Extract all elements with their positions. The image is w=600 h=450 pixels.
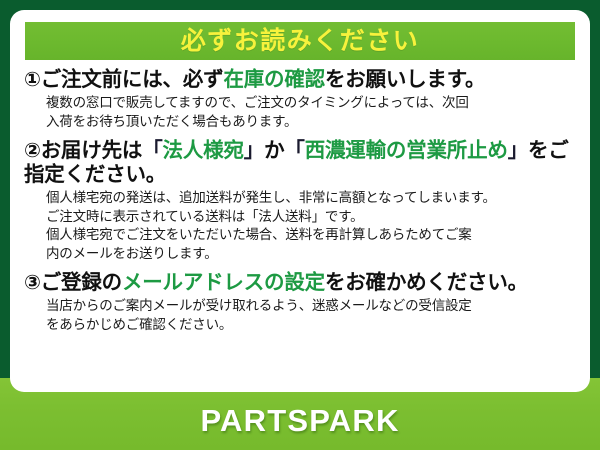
item-3-heading-part-1: メールアドレスの設定 [122,271,325,294]
notice-item-2-body: 個人様宅宛の発送は、追加送料が発生し、非常に高額となってしまいます。 ご注文時に… [24,189,578,264]
notice-item-1: ①ご注文前には、必ず在庫の確認をお願いします。 複数の窓口で販売してますので、ご… [24,68,578,132]
footer-logo: PARTSPARK [0,392,600,450]
banner-title: 必ずお読みください [181,29,420,54]
title-bar: 必ずお読みください [25,22,575,60]
notice-card: 必ずお読みください ①ご注文前には、必ず在庫の確認をお願いします。 複数の窓口で… [10,10,590,392]
item-1-number: ① [24,69,41,91]
notice-banner: 必ずお読みください ①ご注文前には、必ず在庫の確認をお願いします。 複数の窓口で… [0,0,600,450]
item-2-heading-part-6: 西濃運輸の営業所止め [305,139,508,162]
item-3-body-line-0: 当店からのご案内メールが受け取れるよう、迷惑メールなどの受信設定 [46,297,578,316]
notice-item-2-heading: ②お届け先は「法人様宛」か「西濃運輸の営業所止め」をご指定ください。 [24,139,578,187]
notice-item-3: ③ご登録のメールアドレスの設定をお確かめください。 当店からのご案内メールが受け… [24,271,578,335]
item-2-heading-part-1: 「 [142,139,162,162]
item-2-heading-part-5: 「 [284,139,304,162]
notice-item-3-heading: ③ご登録のメールアドレスの設定をお確かめください。 [24,271,578,295]
item-2-number: ② [24,140,41,162]
item-3-heading-part-2: をお確かめください。 [325,271,528,294]
item-2-heading-part-3: 」 [244,139,264,162]
item-2-body-line-1: ご注文時に表示されている送料は「法人送料」です。 [46,208,578,227]
item-3-number: ③ [24,272,41,294]
notice-items-list: ①ご注文前には、必ず在庫の確認をお願いします。 複数の窓口で販売してますので、ご… [10,68,590,341]
item-2-body-line-2: 個人様宅宛でご注文をいただいた場合、送料を再計算しあらためてご案 [46,226,578,245]
brand-logo-text: PARTSPARK [200,403,399,439]
notice-item-1-heading: ①ご注文前には、必ず在庫の確認をお願いします。 [24,68,578,92]
notice-item-2: ②お届け先は「法人様宛」か「西濃運輸の営業所止め」をご指定ください。 個人様宅宛… [24,139,578,264]
item-3-body-line-1: をあらかじめご確認ください。 [46,316,578,335]
item-1-body-line-1: 入荷をお待ち頂いただく場合もあります。 [46,113,578,132]
item-2-heading-part-4: か [264,139,284,162]
item-2-heading-part-7: 」 [508,139,528,162]
item-1-heading-part-2: をお願いします。 [325,68,485,91]
item-3-heading-part-0: ご登録の [41,271,122,294]
item-2-body-line-0: 個人様宅宛の発送は、追加送料が発生し、非常に高額となってしまいます。 [46,189,578,208]
item-1-heading-part-1: 在庫の確認 [223,68,325,91]
item-1-heading-part-0: ご注文前には、必ず [41,68,224,91]
item-2-heading-part-0: お届け先は [41,139,143,162]
item-2-body-line-3: 内のメールをお送りします。 [46,245,578,264]
item-1-body-line-0: 複数の窓口で販売してますので、ご注文のタイミングによっては、次回 [46,94,578,113]
notice-item-3-body: 当店からのご案内メールが受け取れるよう、迷惑メールなどの受信設定 をあらかじめご… [24,297,578,334]
item-2-heading-part-2: 法人様宛 [163,139,244,162]
notice-item-1-body: 複数の窓口で販売してますので、ご注文のタイミングによっては、次回 入荷をお待ち頂… [24,94,578,131]
